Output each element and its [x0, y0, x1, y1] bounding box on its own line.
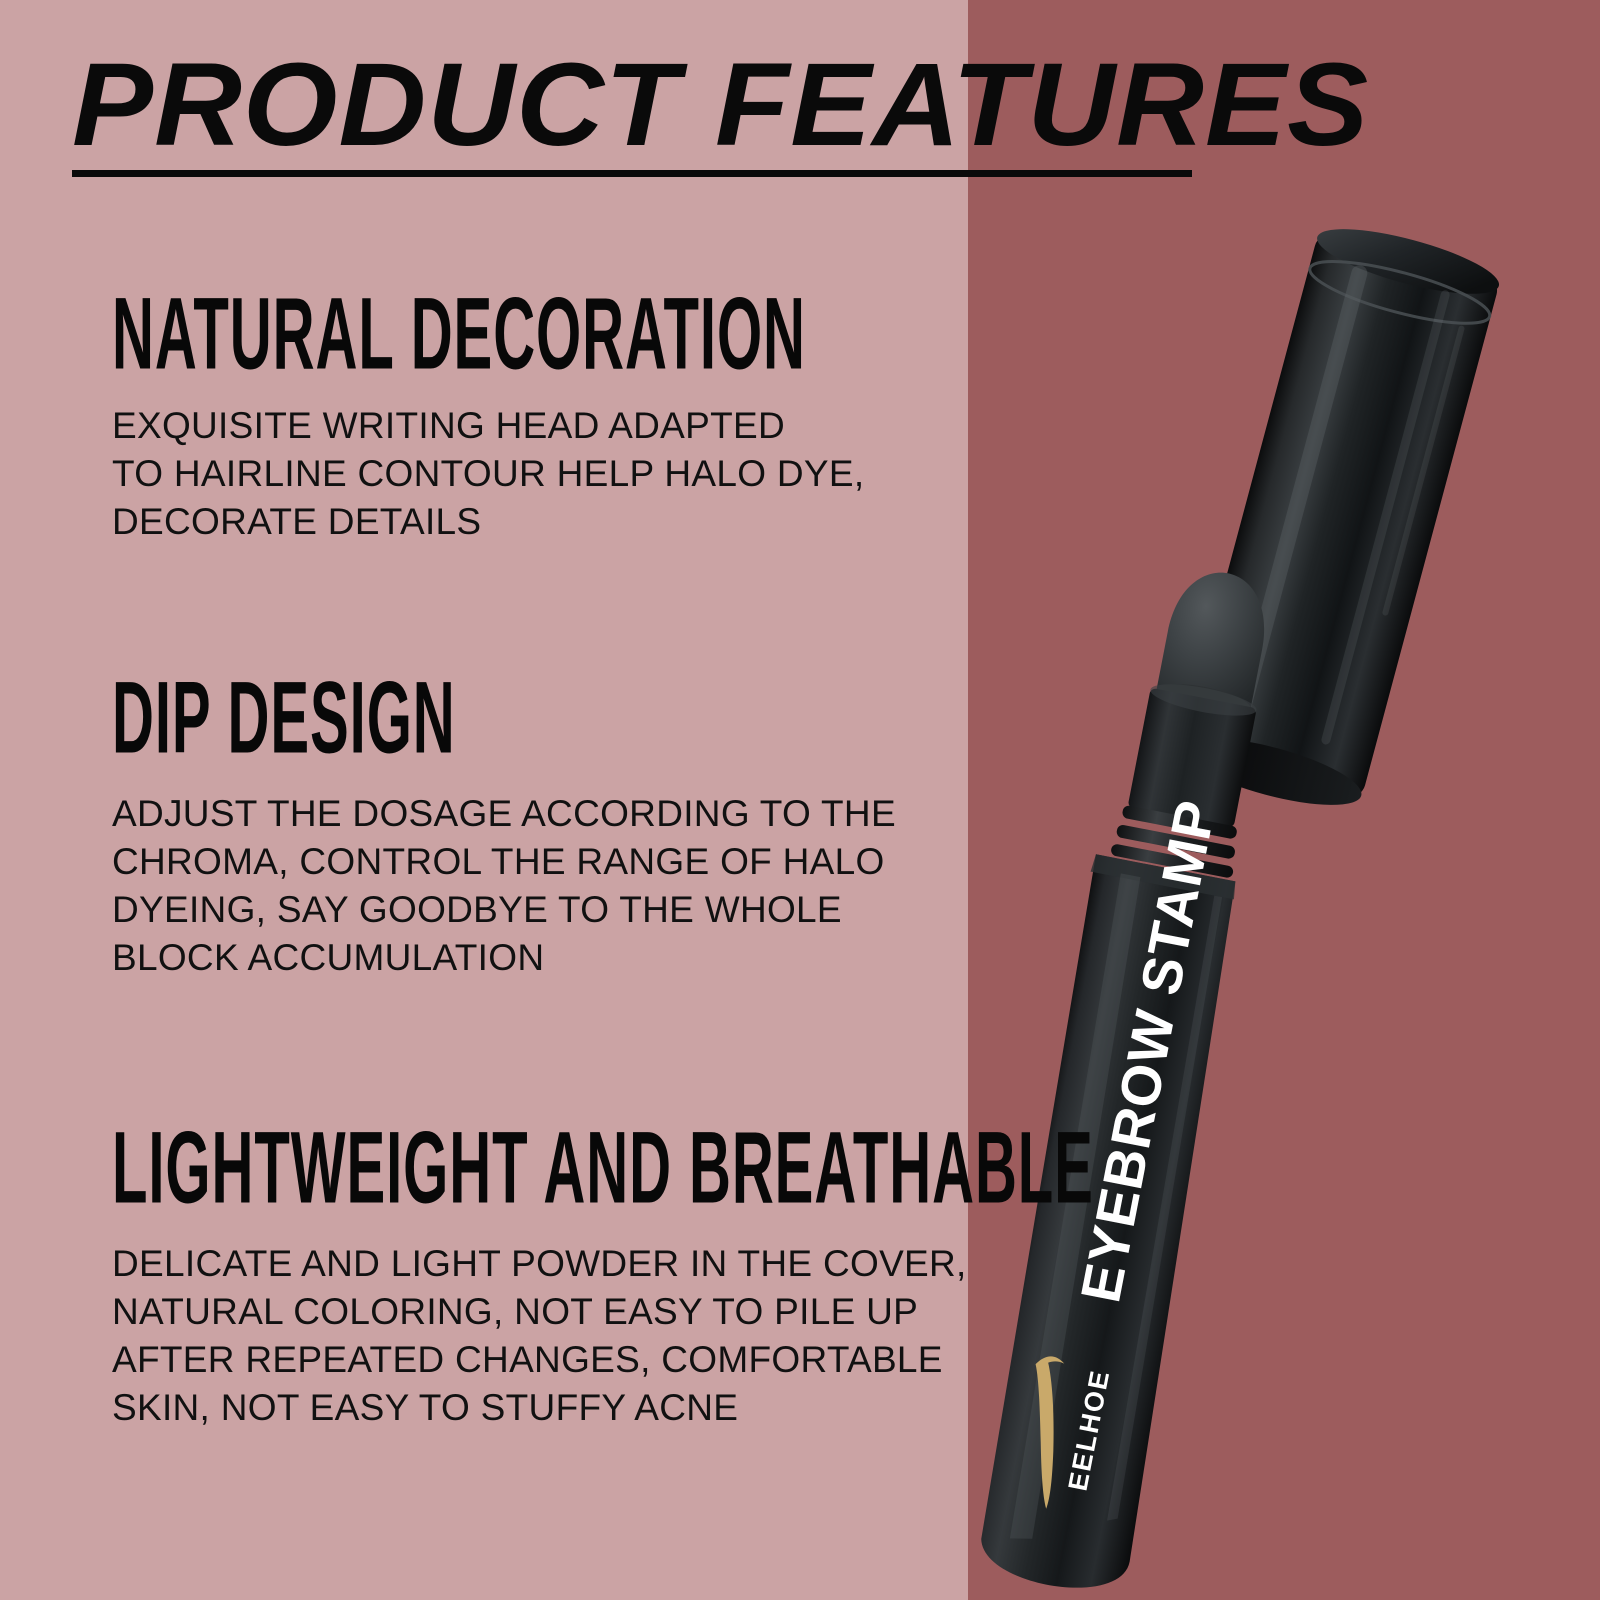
feature-list: NATURAL DECORATION EXQUISITE WRITING HEA… — [0, 0, 968, 1600]
background-panel-right — [968, 0, 1600, 1600]
feature-description: ADJUST THE DOSAGE ACCORDING TO THE CHROM… — [112, 790, 972, 982]
page-title-container: PRODUCT FEATURES — [72, 46, 1272, 164]
feature-block-dip-design: DIP DESIGN ADJUST THE DOSAGE ACCORDING T… — [112, 672, 972, 982]
feature-heading: LIGHTWEIGHT AND BREATHABLE — [112, 1122, 632, 1216]
feature-block-natural-decoration: NATURAL DECORATION EXQUISITE WRITING HEA… — [112, 288, 972, 546]
feature-heading: NATURAL DECORATION — [112, 288, 632, 382]
product-features-infographic: PRODUCT FEATURES NATURAL DECORATION EXQU… — [0, 0, 1600, 1600]
feature-block-lightweight-breathable: LIGHTWEIGHT AND BREATHABLE DELICATE AND … — [112, 1122, 972, 1432]
feature-description: EXQUISITE WRITING HEAD ADAPTED TO HAIRLI… — [112, 402, 972, 546]
feature-description: DELICATE AND LIGHT POWDER IN THE COVER, … — [112, 1240, 972, 1432]
feature-heading: DIP DESIGN — [112, 672, 632, 766]
title-underline-rule — [72, 170, 1192, 177]
page-title: PRODUCT FEATURES — [72, 46, 1308, 164]
